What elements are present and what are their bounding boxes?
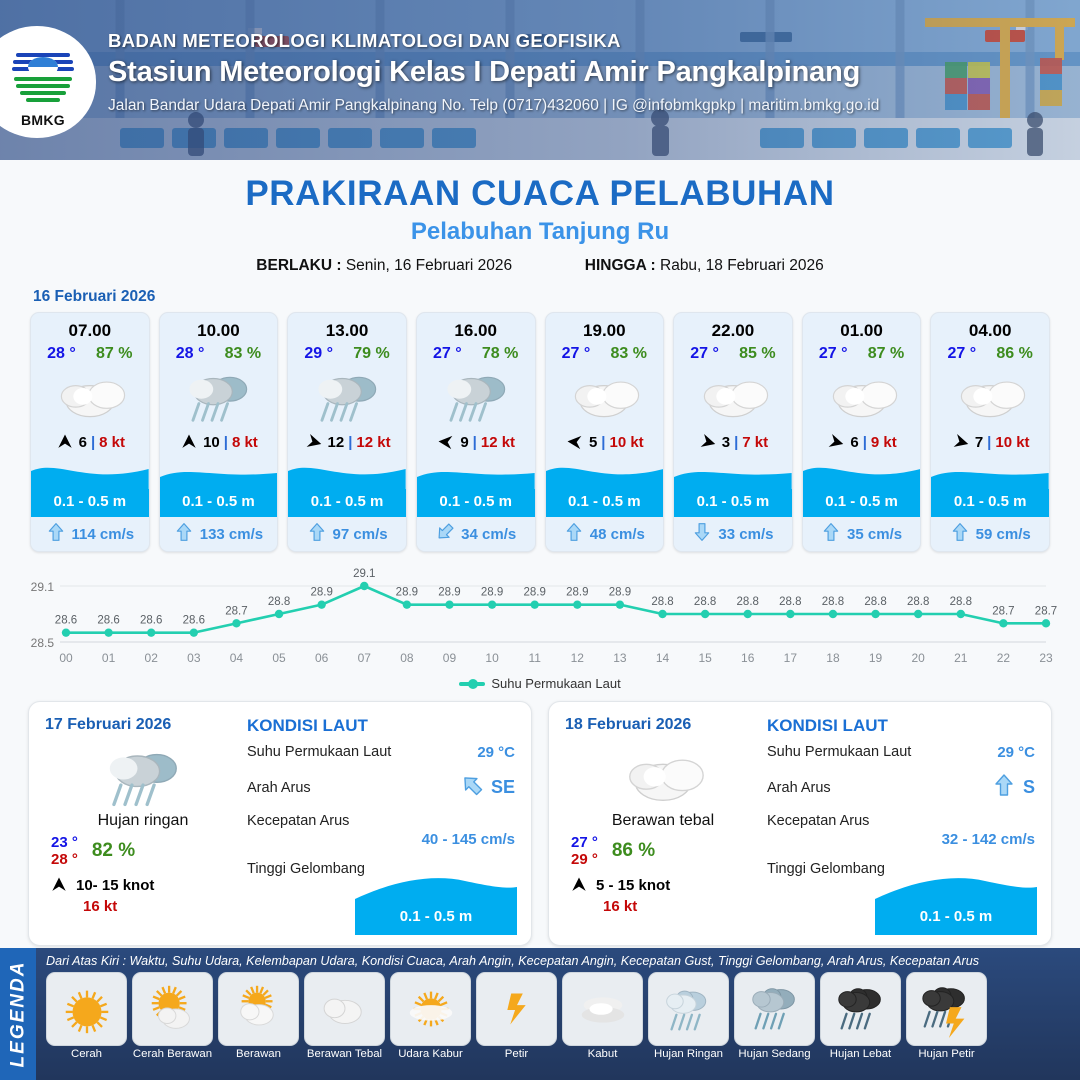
svg-text:05: 05 [272,651,286,665]
day-date: 17 Februari 2026 [45,716,241,734]
legend-item-label: Petir [476,1048,557,1060]
svg-text:13: 13 [613,651,627,665]
svg-text:28.9: 28.9 [524,587,546,599]
bmkg-logo-emblem [4,36,82,114]
day-temp-min: 23 ° [51,834,78,851]
svg-text:10: 10 [485,651,499,665]
wave-shape-icon [546,459,664,493]
wave-shape-icon [803,459,921,493]
wind-direction-arrow-icon [826,432,846,452]
wind-separator: | [734,434,738,451]
svg-text:28.8: 28.8 [737,596,759,608]
card-temperature: 28 ° [176,345,205,363]
day-humidity: 86 % [612,840,655,862]
page-subtitle: Pelabuhan Tanjung Ru [0,218,1080,246]
wind-speed-value: 8 kt [99,434,125,451]
card-temperature: 28 ° [47,345,76,363]
sst-value: 29 °C [997,744,1035,761]
legend-item-label: Kabut [562,1048,643,1060]
svg-text:28.7: 28.7 [225,605,247,617]
card-humidity: 86 % [996,345,1032,363]
card-weather-berawan-icon [31,363,149,425]
wind-direction-value: 5 [589,434,597,451]
day-temp-max: 29 ° [571,851,598,868]
svg-text:28.6: 28.6 [183,615,205,627]
card-time: 16.00 [417,313,535,343]
wave-height-value: 0.1 - 0.5 m [875,908,1037,925]
svg-text:19: 19 [869,651,883,665]
wave-height-value: 0.1 - 0.5 m [288,493,406,510]
card-temperature: 27 ° [562,345,591,363]
svg-text:28.9: 28.9 [438,587,460,599]
svg-text:28.9: 28.9 [566,587,588,599]
card-temperature: 27 ° [433,345,462,363]
legend-item: Udara Kabur [390,972,471,1060]
sst-chart: 29.128.528.60028.60128.60228.60328.70428… [18,564,1062,672]
svg-text:15: 15 [698,651,712,665]
wind-speed-value: 8 kt [232,434,258,451]
legend-side-label: LEGENDA [7,961,29,1068]
svg-text:21: 21 [954,651,968,665]
day-wind-direction-arrow-icon [49,875,69,895]
card-wave-section: 0.1 - 0.5 m [803,459,921,517]
daily-forecast-row: 17 Februari 2026 Hujan ringan 23 ° 28 ° … [0,691,1080,946]
current-direction-arrow-icon [46,522,66,547]
svg-text:12: 12 [571,651,585,665]
legend-petir-icon [476,972,557,1046]
wind-speed-value: 12 kt [481,434,515,451]
svg-text:18: 18 [826,651,840,665]
card-temperature: 27 ° [690,345,719,363]
legend-hujan-petir-icon [906,972,987,1046]
legend-side-tab: LEGENDA [0,948,36,1080]
card-wave-section: 0.1 - 0.5 m [931,459,1049,517]
wind-separator: | [987,434,991,451]
svg-text:28.8: 28.8 [651,596,673,608]
wave-height-value: 0.1 - 0.5 m [355,908,517,925]
legend-hujan-sedang-icon [734,972,815,1046]
card-time: 13.00 [288,313,406,343]
day-weather-hujan-ringan-icon [45,738,241,810]
wave-shape-icon [31,459,149,493]
svg-text:28.7: 28.7 [992,605,1014,617]
valid-from-value: Senin, 16 Februari 2026 [346,257,512,274]
svg-text:28.8: 28.8 [864,596,886,608]
wind-speed-value: 9 kt [871,434,897,451]
chart-legend-marker-icon [459,682,485,686]
wind-direction-value: 9 [460,434,468,451]
day-wave-graphic: 0.1 - 0.5 m [355,877,517,935]
legend-items: Cerah Cerah Berawan Berawan Berawan Teba… [46,972,1072,1060]
card-weather-berawan-icon [674,363,792,425]
hourly-date-label: 16 Februari 2026 [33,288,1080,306]
legend-cerah-icon [46,972,127,1046]
legend-item-label: Udara Kabur [390,1048,471,1060]
legend-item-label: Hujan Ringan [648,1048,729,1060]
bmkg-logo-text: BMKG [4,112,82,128]
card-time: 10.00 [160,313,278,343]
svg-text:28.8: 28.8 [779,596,801,608]
svg-text:28.9: 28.9 [609,587,631,599]
svg-text:07: 07 [358,651,372,665]
wind-direction-value: 10 [203,434,220,451]
day-weather-berawan-tebal-icon [565,738,761,810]
day-gust-value: 16 kt [603,898,761,915]
svg-text:29.1: 29.1 [31,580,55,594]
card-weather-hujan-ringan-icon [288,363,406,425]
legend-bar: LEGENDA Dari Atas Kiri : Waktu, Suhu Uda… [0,948,1080,1080]
card-humidity: 87 % [868,345,904,363]
card-weather-berawan-icon [803,363,921,425]
svg-text:28.9: 28.9 [481,587,503,599]
card-wave-section: 0.1 - 0.5 m [31,459,149,517]
wind-direction-arrow-icon [698,432,718,452]
legend-item: Berawan Tebal [304,972,385,1060]
current-direction-arrow-icon [950,522,970,547]
wind-direction-arrow-icon [951,432,971,452]
sst-value: 29 °C [477,744,515,761]
svg-text:28.8: 28.8 [950,596,972,608]
wind-direction-arrow-icon [304,432,324,452]
day-wind-range: 5 - 15 knot [596,877,670,894]
card-humidity: 85 % [739,345,775,363]
hourly-card: 01.00 27 ° 87 % 6 | 9 kt 0.1 - 0.5 m 35 … [802,312,922,552]
svg-text:00: 00 [59,651,73,665]
validity-period: BERLAKU : Senin, 16 Februari 2026 HINGGA… [0,257,1080,275]
hourly-card: 13.00 29 ° 79 % 12 | 12 kt 0.1 - 0.5 m 9… [287,312,407,552]
svg-text:29.1: 29.1 [353,568,375,580]
card-wave-section: 0.1 - 0.5 m [160,459,278,517]
card-humidity: 87 % [96,345,132,363]
legend-item: Kabut [562,972,643,1060]
svg-text:03: 03 [187,651,201,665]
wind-separator: | [348,434,352,451]
svg-text:20: 20 [911,651,925,665]
wind-direction-value: 12 [328,434,345,451]
legend-item: Hujan Ringan [648,972,729,1060]
legend-item: Hujan Petir [906,972,987,1060]
card-wave-section: 0.1 - 0.5 m [288,459,406,517]
svg-text:28.9: 28.9 [310,587,332,599]
legend-item-label: Hujan Sedang [734,1048,815,1060]
legend-item: Cerah Berawan [132,972,213,1060]
legend-item-label: Berawan Tebal [304,1048,385,1060]
current-direction-arrow-icon [692,522,712,547]
legend-kabut-icon [562,972,643,1046]
title-block: PRAKIRAAN CUACA PELABUHAN Pelabuhan Tanj… [0,160,1080,275]
svg-text:28.6: 28.6 [55,615,77,627]
current-direction-arrow-icon [992,773,1016,802]
legend-item-label: Berawan [218,1048,299,1060]
svg-text:28.8: 28.8 [822,596,844,608]
wave-shape-icon [875,877,1037,935]
card-weather-hujan-ringan-icon [417,363,535,425]
current-speed-value: 35 cm/s [847,526,902,543]
current-direction-arrow-icon [307,522,327,547]
svg-text:11: 11 [528,651,541,665]
svg-text:16: 16 [741,651,755,665]
current-direction-arrow-icon [821,522,841,547]
svg-text:06: 06 [315,651,329,665]
current-direction-value: S [1023,777,1035,798]
legend-item: Hujan Sedang [734,972,815,1060]
current-speed-value: 32 - 142 cm/s [767,831,1035,848]
current-direction-arrow-icon [564,522,584,547]
card-time: 07.00 [31,313,149,343]
wind-speed-value: 10 kt [609,434,643,451]
card-time: 04.00 [931,313,1049,343]
hourly-card: 07.00 28 ° 87 % 6 | 8 kt 0.1 - 0.5 m 114… [30,312,150,552]
legend-berawan-sun-icon [218,972,299,1046]
wind-direction-value: 3 [722,434,730,451]
sst-label: Suhu Permukaan Laut [767,744,911,760]
svg-text:04: 04 [230,651,244,665]
legend-berawan-tebal-icon [304,972,385,1046]
page-title: PRAKIRAAN CUACA PELABUHAN [0,174,1080,214]
current-direction-arrow-icon [435,522,455,547]
svg-text:28.8: 28.8 [907,596,929,608]
card-wave-section: 0.1 - 0.5 m [546,459,664,517]
wind-separator: | [473,434,477,451]
wave-shape-icon [355,877,517,935]
wave-height-label: Tinggi Gelombang [767,861,885,877]
sst-label: Suhu Permukaan Laut [247,744,391,760]
card-wave-section: 0.1 - 0.5 m [674,459,792,517]
legend-item-label: Hujan Petir [906,1048,987,1060]
current-direction-value: SE [491,777,515,798]
valid-until-label: HINGGA : [585,257,656,274]
current-speed-value: 133 cm/s [200,526,263,543]
current-speed-value: 33 cm/s [718,526,773,543]
wave-height-value: 0.1 - 0.5 m [803,493,921,510]
bmkg-logo: BMKG [0,26,96,138]
station-contact: Jalan Bandar Udara Depati Amir Pangkalpi… [108,97,879,115]
card-wave-section: 0.1 - 0.5 m [417,459,535,517]
day-gust-value: 16 kt [83,898,241,915]
legend-item: Cerah [46,972,127,1060]
card-time: 01.00 [803,313,921,343]
current-speed-value: 59 cm/s [976,526,1031,543]
wind-speed-value: 10 kt [995,434,1029,451]
card-weather-berawan-icon [931,363,1049,425]
svg-text:28.7: 28.7 [1035,605,1057,617]
current-speed-value: 48 cm/s [590,526,645,543]
current-speed-value: 40 - 145 cm/s [247,831,515,848]
wave-height-value: 0.1 - 0.5 m [931,493,1049,510]
svg-text:28.6: 28.6 [140,615,162,627]
sea-condition-title: KONDISI LAUT [767,716,1035,736]
current-speed-label: Kecepatan Arus [767,813,1035,829]
legend-hujan-ringan-icon [648,972,729,1046]
day-wind-range: 10- 15 knot [76,877,154,894]
svg-text:01: 01 [102,651,116,665]
svg-text:28.8: 28.8 [694,596,716,608]
current-direction-arrow-icon [460,773,484,802]
wind-direction-arrow-icon [55,432,75,452]
svg-text:23: 23 [1039,651,1053,665]
chart-legend: Suhu Permukaan Laut [0,676,1080,691]
wind-direction-value: 6 [850,434,858,451]
wave-shape-icon [288,459,406,493]
svg-text:28.8: 28.8 [268,596,290,608]
current-speed-value: 114 cm/s [72,526,135,543]
station-name: Stasiun Meteorologi Kelas I Depati Amir … [108,56,879,89]
wind-speed-value: 12 kt [356,434,390,451]
day-wave-graphic: 0.1 - 0.5 m [875,877,1037,935]
svg-text:09: 09 [443,651,457,665]
card-humidity: 83 % [225,345,261,363]
svg-text:28.5: 28.5 [31,636,55,650]
current-speed-label: Kecepatan Arus [247,813,515,829]
daily-forecast-card: 17 Februari 2026 Hujan ringan 23 ° 28 ° … [28,701,532,946]
legend-note: Dari Atas Kiri : Waktu, Suhu Udara, Kele… [46,954,1072,968]
wind-speed-value: 7 kt [742,434,768,451]
svg-text:02: 02 [145,651,159,665]
hourly-card: 22.00 27 ° 85 % 3 | 7 kt 0.1 - 0.5 m 33 … [673,312,793,552]
current-speed-value: 97 cm/s [333,526,388,543]
day-temp-min: 27 ° [571,834,598,851]
svg-text:14: 14 [656,651,670,665]
card-time: 22.00 [674,313,792,343]
wave-height-label: Tinggi Gelombang [247,861,365,877]
legend-item: Hujan Lebat [820,972,901,1060]
current-direction-arrow-icon [174,522,194,547]
wind-direction-arrow-icon [565,432,585,452]
legend-udara-kabur-icon [390,972,471,1046]
wave-shape-icon [417,459,535,493]
wind-direction-value: 6 [79,434,87,451]
card-temperature: 27 ° [819,345,848,363]
wave-height-value: 0.1 - 0.5 m [31,493,149,510]
wind-separator: | [224,434,228,451]
card-humidity: 79 % [353,345,389,363]
page-header: BMKG BADAN METEOROLOGI KLIMATOLOGI DAN G… [0,0,1080,160]
wave-height-value: 0.1 - 0.5 m [674,493,792,510]
svg-text:17: 17 [784,651,798,665]
svg-text:22: 22 [997,651,1011,665]
card-temperature: 27 ° [948,345,977,363]
hourly-card: 16.00 27 ° 78 % 9 | 12 kt 0.1 - 0.5 m 34… [416,312,536,552]
wind-separator: | [91,434,95,451]
agency-name: BADAN METEOROLOGI KLIMATOLOGI DAN GEOFIS… [108,30,879,52]
card-weather-hujan-ringan-icon [160,363,278,425]
wave-height-value: 0.1 - 0.5 m [417,493,535,510]
legend-item: Berawan [218,972,299,1060]
day-date: 18 Februari 2026 [565,716,761,734]
card-temperature: 29 ° [304,345,333,363]
legend-item-label: Cerah Berawan [132,1048,213,1060]
legend-hujan-lebat-icon [820,972,901,1046]
current-direction-label: Arah Arus [767,780,831,796]
svg-text:08: 08 [400,651,414,665]
day-temp-max: 28 ° [51,851,78,868]
day-wind-direction-arrow-icon [569,875,589,895]
hourly-card: 10.00 28 ° 83 % 10 | 8 kt 0.1 - 0.5 m 13… [159,312,279,552]
card-weather-berawan-icon [546,363,664,425]
chart-legend-label: Suhu Permukaan Laut [491,676,620,691]
sst-chart-svg: 29.128.528.60028.60128.60228.60328.70428… [18,564,1062,672]
sea-condition-title: KONDISI LAUT [247,716,515,736]
day-condition: Berawan tebal [565,812,761,830]
daily-forecast-card: 18 Februari 2026 Berawan tebal 27 ° 29 °… [548,701,1052,946]
day-condition: Hujan ringan [45,812,241,830]
wind-separator: | [601,434,605,451]
wind-direction-value: 7 [975,434,983,451]
card-humidity: 83 % [611,345,647,363]
wave-height-value: 0.1 - 0.5 m [546,493,664,510]
legend-item-label: Hujan Lebat [820,1048,901,1060]
wind-direction-arrow-icon [179,432,199,452]
wave-height-value: 0.1 - 0.5 m [160,493,278,510]
legend-item: Petir [476,972,557,1060]
wave-shape-icon [160,459,278,493]
card-time: 19.00 [546,313,664,343]
current-speed-value: 34 cm/s [461,526,516,543]
hourly-card: 04.00 27 ° 86 % 7 | 10 kt 0.1 - 0.5 m 59… [930,312,1050,552]
legend-cerah-berawan-icon [132,972,213,1046]
valid-until-value: Rabu, 18 Februari 2026 [660,257,824,274]
day-humidity: 82 % [92,840,135,862]
hourly-card: 19.00 27 ° 83 % 5 | 10 kt 0.1 - 0.5 m 48… [545,312,665,552]
svg-text:28.6: 28.6 [97,615,119,627]
wind-direction-arrow-icon [436,432,456,452]
svg-text:28.9: 28.9 [396,587,418,599]
legend-item-label: Cerah [46,1048,127,1060]
valid-from-label: BERLAKU : [256,257,341,274]
wave-shape-icon [674,459,792,493]
wind-separator: | [863,434,867,451]
card-humidity: 78 % [482,345,518,363]
hourly-forecast-row: 07.00 28 ° 87 % 6 | 8 kt 0.1 - 0.5 m 114… [0,312,1080,552]
current-direction-label: Arah Arus [247,780,311,796]
wave-shape-icon [931,459,1049,493]
